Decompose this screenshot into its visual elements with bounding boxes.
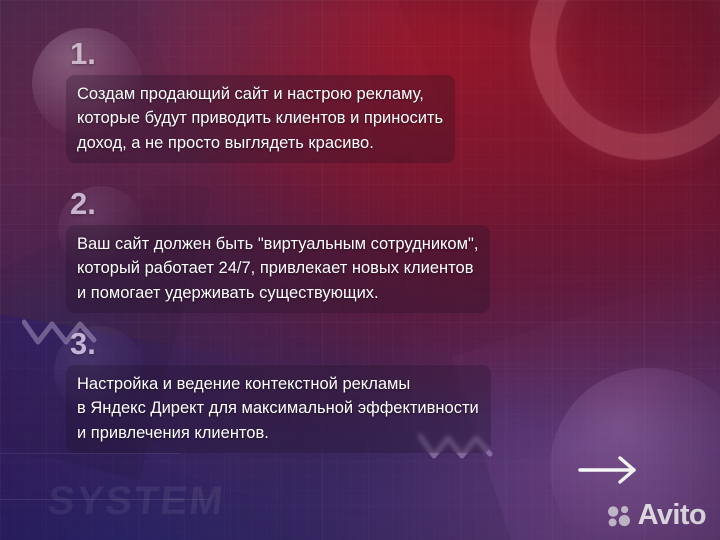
avito-wordmark: Avito [638, 501, 706, 530]
point-number-2: 2. [70, 188, 490, 219]
point-number-3: 3. [70, 328, 491, 359]
point-block-1: 1. Создам продающий сайт и настрою рекла… [66, 38, 455, 163]
avito-logo: Avito [607, 501, 706, 530]
point-block-2: 2. Ваш сайт должен быть "виртуальным сот… [66, 188, 490, 313]
avito-dots-icon [607, 504, 633, 528]
point-text-3: Настройка и ведение контекстной рекламы … [66, 365, 491, 453]
point-text-1: Создам продающий сайт и настрою рекламу,… [66, 75, 455, 163]
promo-slide: SYSTEM 1. Создам продающий сайт и настро… [0, 0, 720, 540]
point-number-1: 1. [70, 38, 455, 69]
point-text-2: Ваш сайт должен быть "виртуальным сотруд… [66, 225, 490, 313]
point-block-3: 3. Настройка и ведение контекстной рекла… [66, 328, 491, 453]
arrow-right-icon[interactable] [578, 455, 642, 485]
